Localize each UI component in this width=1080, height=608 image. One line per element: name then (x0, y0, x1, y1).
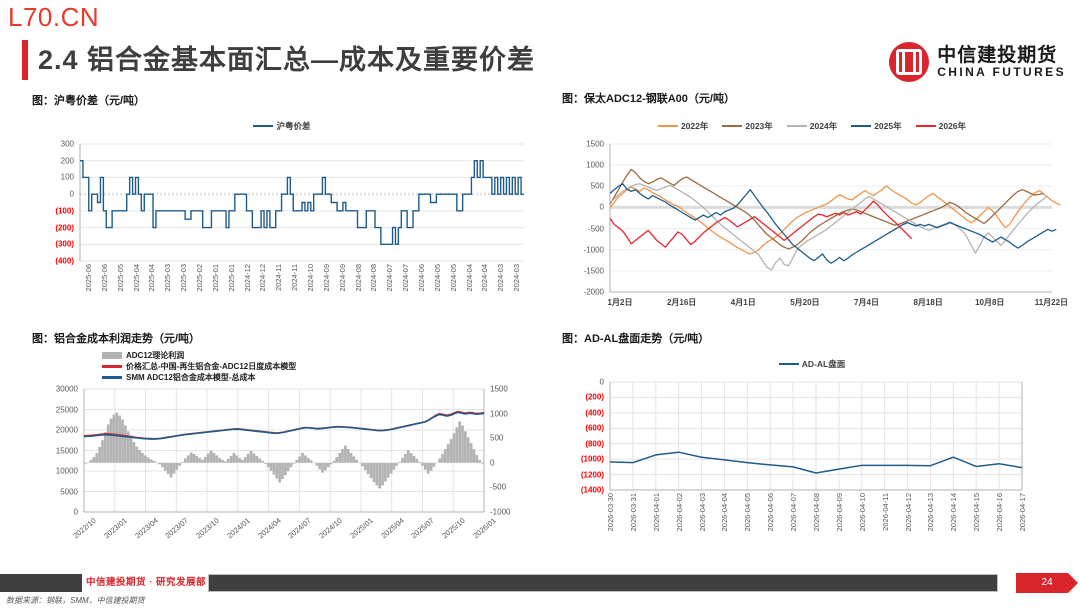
y-axis-label-right: 500 (490, 434, 534, 443)
legend-label: 沪粤价差 (276, 120, 310, 132)
title-accent-bar (22, 40, 28, 80)
y-axis-label-left: 15000 (32, 446, 78, 455)
p1-svg (32, 138, 532, 323)
x-axis-label: 2026-04-08 (812, 493, 821, 531)
y-axis-label: (1400) (562, 486, 604, 495)
y-axis-label: -2000 (562, 288, 604, 297)
x-axis-label: 2025-06 (100, 264, 109, 292)
legend-label: AD-AL盘面 (802, 358, 845, 370)
y-axis-label: 1000 (562, 161, 604, 170)
x-axis-label: 10月8日 (975, 297, 1004, 308)
legend-label: 2023年 (745, 120, 772, 132)
x-axis-label: 2024-05 (449, 264, 458, 292)
x-axis-label: 2026-04-15 (972, 493, 981, 531)
x-axis-label: 2024-05 (433, 264, 442, 292)
y-axis-label-right: 1500 (490, 385, 534, 394)
y-axis-label: (200) (32, 223, 74, 232)
y-axis-label: (400) (562, 408, 604, 417)
y-axis-label-left: 25000 (32, 405, 78, 414)
x-axis-label: 2026-04-10 (858, 493, 867, 531)
plot-baotai-adc12-a00: 150010005000-500-1000-1500-20001月2日2月16日… (562, 138, 1062, 318)
legend-label: ADC12理论利润 (126, 350, 184, 361)
logo-text: 中信建投期货 CHINA FUTURES (937, 46, 1066, 79)
legend-swatch-icon (102, 376, 122, 379)
x-axis-label: 2025-03 (163, 264, 172, 292)
plot-ad-al-board: 0(200)(400)(600)(800)(1000)(1200)(1400)2… (562, 376, 1062, 556)
panel-title-ad-al-board: 图：AD-AL盘面走势（元/吨） (562, 330, 1062, 346)
y-axis-label: (200) (562, 393, 604, 402)
x-axis-label: 2025-04 (132, 264, 141, 292)
x-axis-label: 2026-04-02 (675, 493, 684, 531)
x-axis-label: 2024-03 (496, 264, 505, 292)
x-axis-label: 2026-04-09 (835, 493, 844, 531)
x-axis-label: 2024-10 (306, 264, 315, 292)
x-axis-label: 2025-01 (227, 264, 236, 292)
y-axis-label: 0 (562, 378, 604, 387)
legend-label: 价格汇总-中国-再生铝合金-ADC12日度成本模型 (126, 361, 296, 372)
footer-block (0, 574, 82, 592)
legend-item: 2025年 (851, 120, 901, 132)
y-axis-label: -1000 (562, 245, 604, 254)
x-axis-label: 2026-03-30 (606, 493, 615, 531)
y-axis-label-left: 10000 (32, 467, 78, 476)
plot-hu-yue-spread: 3002001000(100)(200)(300)(400)2025-06202… (32, 138, 532, 323)
panel-title-alloy-cost-profit: 图：铝合金成本利润走势（元/吨） (32, 330, 532, 346)
x-axis-label: 2026-03-31 (629, 493, 638, 531)
x-axis-label: 2024-12 (258, 264, 267, 292)
x-axis-label: 4月1日 (731, 297, 756, 308)
y-axis-label: (600) (562, 424, 604, 433)
y-axis-label: 500 (562, 182, 604, 191)
x-axis-label: 2024-07 (385, 264, 394, 292)
legend-label: 2024年 (810, 120, 837, 132)
y-axis-label: 1500 (562, 140, 604, 149)
x-axis-label: 2026-04-05 (743, 493, 752, 531)
x-axis-label: 2025-05 (116, 264, 125, 292)
x-axis-label: 2025-03 (179, 264, 188, 292)
p3-svg (32, 385, 532, 570)
y-axis-label: (300) (32, 240, 74, 249)
legend-label: SMM ADC12铝合金成本模型-总成本 (126, 372, 255, 383)
legend-item: 价格汇总-中国-再生铝合金-ADC12日度成本模型 (102, 361, 532, 372)
legend-item: 2026年 (916, 120, 966, 132)
y-axis-label: -1500 (562, 266, 604, 275)
slide-footer: 中信建投期货 · 研究发展部 数据来源：钢联，SMM，中信建投期货 24 (0, 570, 1080, 608)
panel-title-baotai-adc12-a00: 图：保太ADC12-钢联A00（元/吨） (562, 90, 1062, 106)
y-axis-label: 100 (32, 173, 74, 182)
footer-bar (208, 574, 998, 592)
x-axis-label: 2024-04 (480, 264, 489, 292)
legend-item: 沪粤价差 (253, 120, 310, 132)
x-axis-label: 2月16日 (667, 297, 696, 308)
legend-hu-yue-spread: 沪粤价差 (32, 120, 532, 132)
y-axis-label: (1000) (562, 455, 604, 464)
page-title: 2.4 铝合金基本面汇总—成本及重要价差 (38, 38, 535, 77)
x-axis-label: 2024-06 (417, 264, 426, 292)
y-axis-label: (100) (32, 206, 74, 215)
legend-label: 2022年 (681, 120, 708, 132)
y-axis-label-left: 20000 (32, 426, 78, 435)
x-axis-label: 2024-11 (290, 264, 299, 291)
y-axis-label-right: -500 (490, 483, 534, 492)
company-logo: 中信建投期货 CHINA FUTURES (889, 42, 1066, 82)
x-axis-label: 2024-07 (401, 264, 410, 292)
legend-label: 2025年 (874, 120, 901, 132)
legend-item: 2024年 (787, 120, 837, 132)
legend-item: AD-AL盘面 (779, 358, 845, 370)
x-axis-label: 2024-08 (369, 264, 378, 292)
logo-name-cn: 中信建投期货 (937, 46, 1066, 66)
x-axis-label: 2025-01 (211, 264, 220, 292)
legend-swatch-icon (851, 125, 871, 128)
panel-alloy-cost-profit: 图：铝合金成本利润走势（元/吨） ADC12理论利润价格汇总-中国-再生铝合金-… (32, 330, 532, 575)
x-axis-label: 2026-04-06 (766, 493, 775, 531)
x-axis-label: 2025-02 (195, 264, 204, 292)
y-axis-label-right: -1000 (490, 508, 534, 517)
x-axis-label: 5月20日 (790, 297, 819, 308)
x-axis-label: 2024-09 (322, 264, 331, 292)
x-axis-label: 2026-04-04 (720, 493, 729, 531)
x-axis-label: 2026-04-03 (698, 493, 707, 531)
x-axis-label: 2026-04-16 (995, 493, 1004, 531)
legend-swatch-icon (658, 125, 678, 128)
y-axis-label: 0 (562, 203, 604, 212)
legend-item: ADC12理论利润 (102, 350, 532, 361)
x-axis-label: 2025-06 (84, 264, 93, 292)
y-axis-label: 300 (32, 140, 74, 149)
footer-source: 数据来源：钢联，SMM，中信建投期货 (6, 595, 145, 606)
watermark: L70.CN (8, 2, 99, 33)
y-axis-label-right: 1000 (490, 409, 534, 418)
x-axis-label: 2024-09 (338, 264, 347, 292)
legend-item: 2022年 (658, 120, 708, 132)
legend-swatch-icon (102, 352, 122, 359)
x-axis-label: 2024-11 (274, 264, 283, 291)
legend-swatch-icon (722, 125, 742, 128)
x-axis-label: 2024-12 (243, 264, 252, 292)
x-axis-label: 2026-04-17 (1018, 493, 1027, 531)
panel-ad-al-board: 图：AD-AL盘面走势（元/吨） AD-AL盘面 0(200)(400)(600… (562, 330, 1062, 575)
x-axis-label: 7月4日 (854, 297, 879, 308)
y-axis-label-right: 0 (490, 458, 534, 467)
footer-department: 中信建投期货 · 研究发展部 (86, 574, 206, 592)
y-axis-label: (800) (562, 439, 604, 448)
x-axis-label: 2024-03 (512, 264, 521, 292)
x-axis-label: 8月18日 (913, 297, 942, 308)
legend-swatch-icon (779, 363, 799, 366)
y-axis-label: (400) (32, 257, 74, 266)
legend-ad-al-board: AD-AL盘面 (562, 358, 1062, 370)
x-axis-label: 2026-04-11 (881, 493, 890, 531)
y-axis-label-left: 30000 (32, 385, 78, 394)
slide-header: 2.4 铝合金基本面汇总—成本及重要价差 中信建投期货 CHINA FUTURE… (0, 38, 1080, 84)
legend-swatch-icon (787, 125, 807, 128)
panel-baotai-adc12-a00: 图：保太ADC12-钢联A00（元/吨） 2022年2023年2024年2025… (562, 90, 1062, 324)
x-axis-label: 2026-04-12 (904, 493, 913, 531)
x-axis-label: 1月2日 (608, 297, 633, 308)
x-axis-label: 2026-04-01 (652, 493, 661, 531)
panel-title-hu-yue-spread: 图：沪粤价差（元/吨） (32, 92, 532, 108)
y-axis-label: 200 (32, 156, 74, 165)
x-axis-label: 11月22日 (1035, 297, 1068, 308)
x-axis-label: 2024-04 (465, 264, 474, 292)
legend-baotai-adc12-a00: 2022年2023年2024年2025年2026年 (562, 120, 1062, 132)
x-axis-label: 2026-04-13 (926, 493, 935, 531)
y-axis-label: (1200) (562, 470, 604, 479)
citic-logo-icon (889, 42, 929, 82)
panel-hu-yue-spread: 图：沪粤价差（元/吨） 沪粤价差 3002001000(100)(200)(30… (32, 92, 532, 324)
plot-alloy-cost-profit: 3000025000200001500010000500001500100050… (32, 385, 532, 570)
x-axis-label: 2026-04-07 (789, 493, 798, 531)
legend-alloy-cost-profit: ADC12理论利润价格汇总-中国-再生铝合金-ADC12日度成本模型SMM AD… (102, 350, 532, 383)
legend-label: 2026年 (939, 120, 966, 132)
x-axis-label: 2024-08 (354, 264, 363, 292)
x-axis-label: 2026-04-14 (949, 493, 958, 531)
y-axis-label-left: 5000 (32, 487, 78, 496)
legend-swatch-icon (253, 125, 273, 128)
y-axis-label: 0 (32, 190, 74, 199)
page-number-badge: 24 (1016, 573, 1078, 593)
legend-item: SMM ADC12铝合金成本模型-总成本 (102, 372, 532, 383)
y-axis-label: -500 (562, 224, 604, 233)
legend-swatch-icon (102, 365, 122, 368)
y-axis-label-left: 0 (32, 508, 78, 517)
legend-item: 2023年 (722, 120, 772, 132)
logo-name-en: CHINA FUTURES (937, 66, 1066, 79)
legend-swatch-icon (916, 125, 936, 128)
x-axis-label: 2025-04 (147, 264, 156, 292)
p2-svg (562, 138, 1062, 318)
